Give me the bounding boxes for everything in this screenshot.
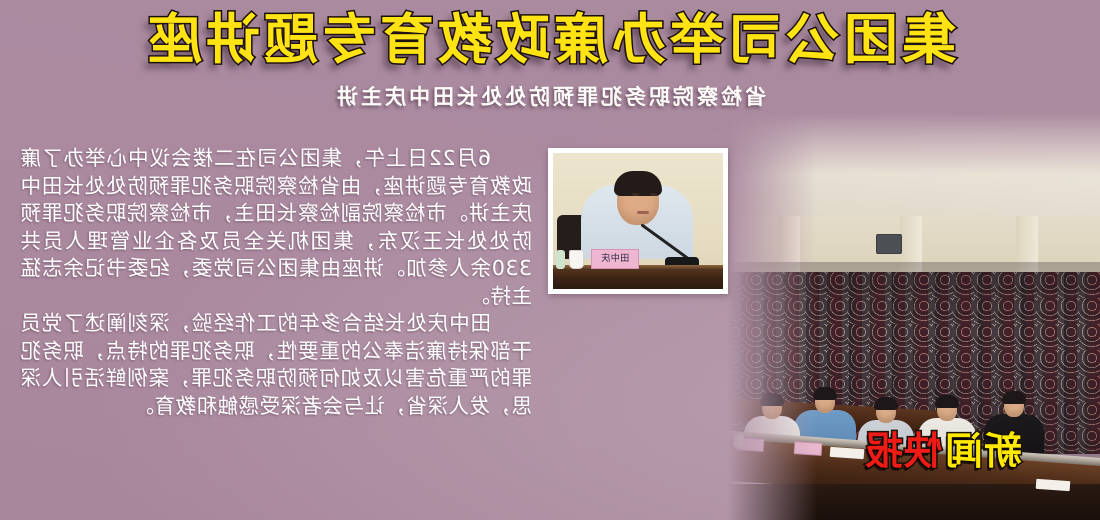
news-poster: 新闻 快报 田中庆 xyxy=(0,0,1100,520)
speaker-photo: 田中庆 xyxy=(548,148,728,294)
mirrored-composition: 新闻 快报 田中庆 xyxy=(0,0,1100,520)
page-subtitle: 省检察院职务犯罪预防处处长田中庆主讲 xyxy=(0,85,1100,110)
article-body: 6月22日上午，集团公司在二楼会议中心举办了廉政教育专题讲座，由省检察院职务犯罪… xyxy=(20,145,532,420)
page-title: 集团公司举办廉政教育专题讲座 xyxy=(0,10,1100,69)
news-watermark-part1: 新闻 xyxy=(944,432,1022,470)
article-paragraph-2: 田中庆处长结合多年的工作经验，深刻阐述了党员干部保持廉洁奉公的重要性，职务犯罪的… xyxy=(20,310,532,420)
speaker-eye-right xyxy=(632,193,639,196)
water-cup-icon xyxy=(569,250,584,269)
news-watermark-part2: 快报 xyxy=(864,432,942,470)
title-block: 集团公司举办廉政教育专题讲座 省检察院职务犯罪预防处处长田中庆主讲 xyxy=(0,10,1100,111)
speaker-mouth xyxy=(637,211,649,214)
speaker-nameplate: 田中庆 xyxy=(591,249,639,269)
news-watermark: 新闻 快报 xyxy=(864,432,1022,470)
hall-ceiling xyxy=(728,112,1100,230)
article-paragraph-1: 6月22日上午，集团公司在二楼会议中心举办了廉政教育专题讲座，由省检察院职务犯罪… xyxy=(20,145,532,310)
water-bottle-icon xyxy=(556,250,565,269)
desk-nameplate xyxy=(794,441,823,456)
wall-monitor-icon xyxy=(876,234,902,254)
water-cup-icon xyxy=(733,434,744,448)
speaker-eye-left xyxy=(650,193,657,196)
